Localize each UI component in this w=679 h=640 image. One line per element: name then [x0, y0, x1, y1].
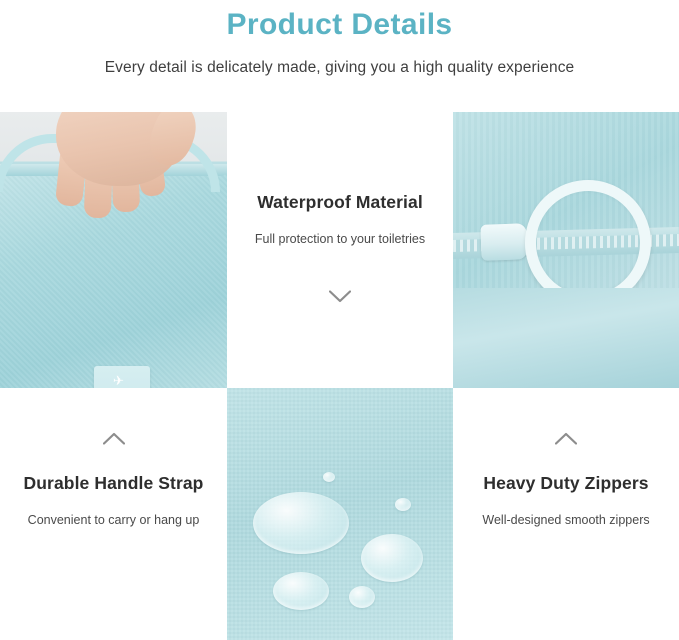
- feature-row-bottom: Durable Handle Strap Convenient to carry…: [0, 388, 679, 640]
- feature-row-top: ✈ TRAVEL NAME / ADDRESS / PHONE TRAVEL W…: [0, 112, 679, 388]
- page-header: Product Details Every detail is delicate…: [0, 0, 679, 112]
- photo-water-drops: [227, 388, 453, 640]
- water-drop: [395, 498, 411, 511]
- water-drop: [253, 492, 349, 554]
- fabric-fold: [453, 288, 679, 388]
- water-drop: [323, 472, 335, 482]
- feature-grid: ✈ TRAVEL NAME / ADDRESS / PHONE TRAVEL W…: [0, 112, 679, 640]
- feature-title: Heavy Duty Zippers: [483, 471, 648, 495]
- hand: [48, 112, 198, 240]
- chevron-up-wrap: [103, 432, 125, 471]
- chevron-up-icon: [103, 432, 125, 445]
- chevron-up-wrap: [555, 432, 577, 471]
- feature-title: Waterproof Material: [257, 190, 423, 214]
- airplane-icon: ✈: [113, 374, 124, 387]
- feature-waterproof-material: Waterproof Material Full protection to y…: [227, 112, 453, 388]
- feature-durable-handle-strap: Durable Handle Strap Convenient to carry…: [0, 388, 227, 640]
- chevron-down-icon: [329, 290, 351, 303]
- page-subtitle: Every detail is delicately made, giving …: [0, 44, 679, 78]
- water-drop: [273, 572, 329, 610]
- water-drop: [349, 586, 375, 608]
- luggage-tag: ✈ TRAVEL NAME / ADDRESS / PHONE TRAVEL: [94, 366, 150, 388]
- feature-desc: Well-designed smooth zippers: [482, 495, 649, 529]
- feature-desc: Convenient to carry or hang up: [28, 495, 200, 529]
- water-drop: [361, 534, 423, 582]
- feature-desc: Full protection to your toiletries: [255, 214, 425, 248]
- feature-heavy-duty-zippers: Heavy Duty Zippers Well-designed smooth …: [453, 388, 679, 640]
- product-details-page: Product Details Every detail is delicate…: [0, 0, 679, 640]
- photo-zipper-ring-pull: [453, 112, 679, 388]
- chevron-down-wrap: [329, 248, 351, 303]
- zipper-slider: [480, 223, 527, 261]
- feature-title: Durable Handle Strap: [24, 471, 204, 495]
- chevron-up-icon: [555, 432, 577, 445]
- page-title: Product Details: [0, 4, 679, 44]
- photo-hand-holding-handle: ✈ TRAVEL NAME / ADDRESS / PHONE TRAVEL: [0, 112, 227, 388]
